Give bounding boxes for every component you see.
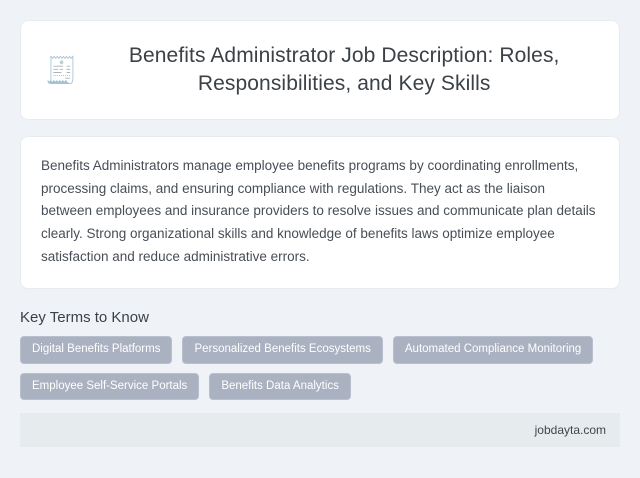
key-term-tag[interactable]: Digital Benefits Platforms xyxy=(20,336,172,364)
footer-site-label: jobdayta.com xyxy=(535,423,606,437)
key-term-tag[interactable]: Benefits Data Analytics xyxy=(209,373,351,401)
title-card: 🧾 Benefits Administrator Job Description… xyxy=(20,20,620,120)
key-term-tag[interactable]: Employee Self-Service Portals xyxy=(20,373,199,401)
key-terms-tag-list: Digital Benefits Platforms Personalized … xyxy=(20,336,620,400)
footer-bar: jobdayta.com xyxy=(20,413,620,447)
page-title: Benefits Administrator Job Description: … xyxy=(93,42,595,97)
title-row: 🧾 Benefits Administrator Job Description… xyxy=(45,28,595,112)
receipt-icon: 🧾 xyxy=(45,57,77,83)
key-terms-heading: Key Terms to Know xyxy=(20,309,620,326)
description-card: Benefits Administrators manage employee … xyxy=(20,136,620,289)
description-paragraph: Benefits Administrators manage employee … xyxy=(41,155,599,268)
key-term-tag[interactable]: Automated Compliance Monitoring xyxy=(393,336,593,364)
page-root: 🧾 Benefits Administrator Job Description… xyxy=(0,0,640,478)
key-term-tag[interactable]: Personalized Benefits Ecosystems xyxy=(182,336,382,364)
